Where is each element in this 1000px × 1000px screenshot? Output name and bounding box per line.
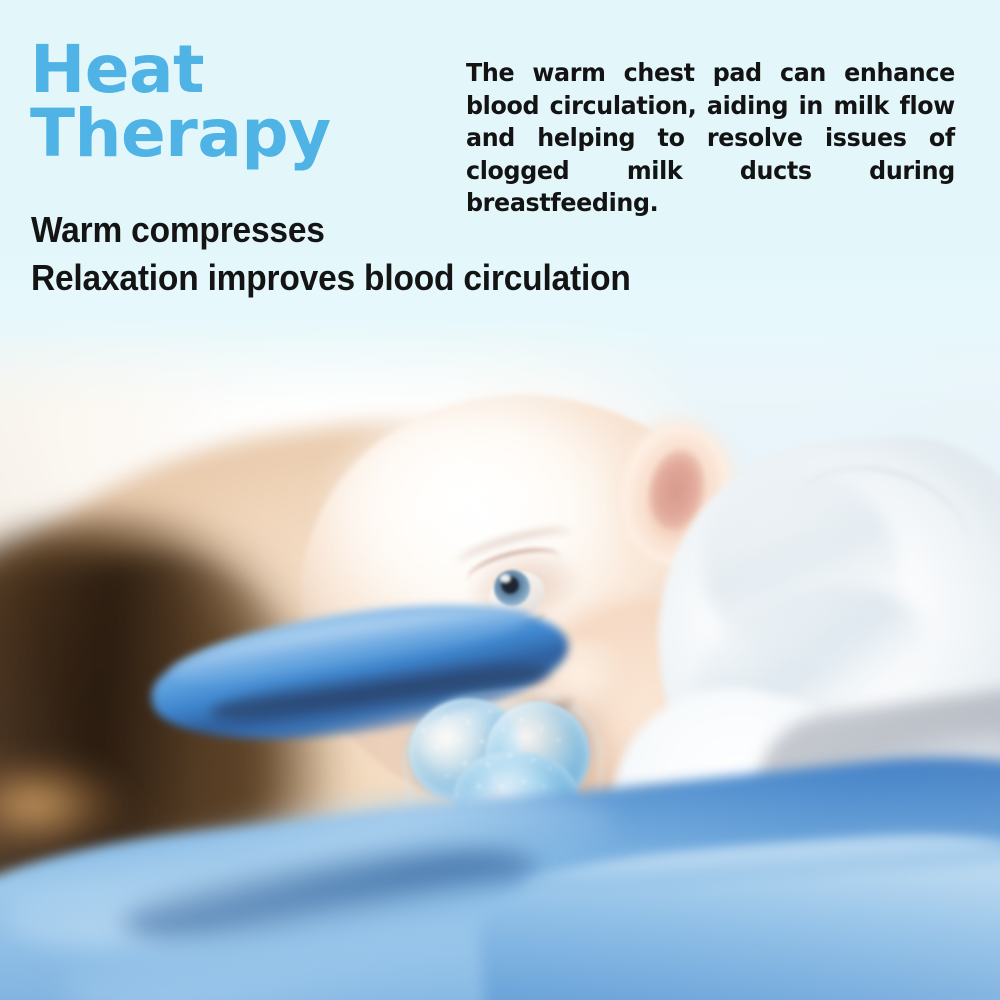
- headline: Heat Therapy: [30, 38, 450, 166]
- subtitle-line-1: Warm compresses: [31, 212, 325, 248]
- subtitle-line-2: Relaxation improves blood circulation: [31, 260, 631, 296]
- description-paragraph: The warm chest pad can enhance blood cir…: [466, 57, 955, 252]
- product-feature-image: Heat Therapy Warm compresses Relaxation …: [0, 0, 1000, 1000]
- text-banner: Heat Therapy Warm compresses Relaxation …: [0, 0, 1000, 345]
- headline-line-2: Therapy: [30, 102, 450, 166]
